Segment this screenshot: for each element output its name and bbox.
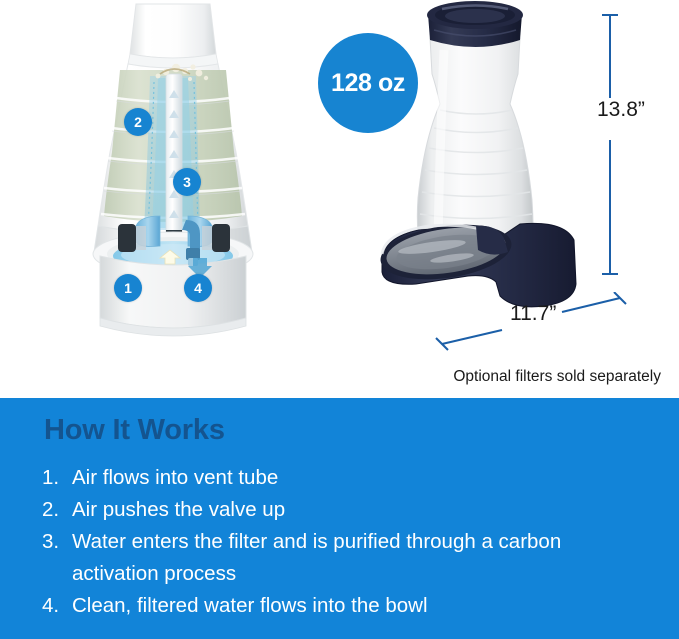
- panel-title: How It Works: [44, 414, 225, 447]
- steps-list: 1. Air flows into vent tube 2. Air pushe…: [42, 462, 642, 622]
- product-photo: [368, 0, 603, 325]
- step-text: Clean, filtered water flows into the bow…: [72, 590, 642, 622]
- dimension-height-cap-bottom: [602, 273, 618, 275]
- diagram-callout-1[interactable]: 1: [114, 274, 142, 302]
- diagram-callout-4[interactable]: 4: [184, 274, 212, 302]
- cutaway-diagram: 1 2 3 4: [48, 2, 298, 370]
- step-text: Water enters the filter and is purified …: [72, 526, 642, 590]
- dimension-height-line-lower: [609, 140, 611, 274]
- dimension-width-label: 11.7”: [510, 302, 556, 326]
- how-it-works-panel: How It Works 1. Air flows into vent tube…: [0, 398, 679, 639]
- step-text: Air flows into vent tube: [72, 462, 642, 494]
- step-number: 2.: [42, 494, 72, 526]
- step-number: 3.: [42, 526, 72, 590]
- dimension-height-label: 13.8”: [595, 98, 679, 122]
- dimension-height-line-upper: [609, 14, 611, 98]
- step-number: 4.: [42, 590, 72, 622]
- step-number: 1.: [42, 462, 72, 494]
- dimension-height: 13.8”: [595, 2, 679, 312]
- list-item: 3. Water enters the filter and is purifi…: [42, 526, 642, 590]
- filters-caption: Optional filters sold separately: [0, 368, 673, 386]
- dimension-width: 11.7”: [432, 292, 632, 354]
- list-item: 2. Air pushes the valve up: [42, 494, 642, 526]
- infographic-page: 1 2 3 4 128 oz: [0, 0, 679, 639]
- step-text: Air pushes the valve up: [72, 494, 642, 526]
- product-illustration: [368, 0, 603, 325]
- list-item: 4. Clean, filtered water flows into the …: [42, 590, 642, 622]
- top-white-area: 1 2 3 4 128 oz: [0, 0, 679, 398]
- diagram-callout-3[interactable]: 3: [173, 168, 201, 196]
- list-item: 1. Air flows into vent tube: [42, 462, 642, 494]
- diagram-callout-2[interactable]: 2: [124, 108, 152, 136]
